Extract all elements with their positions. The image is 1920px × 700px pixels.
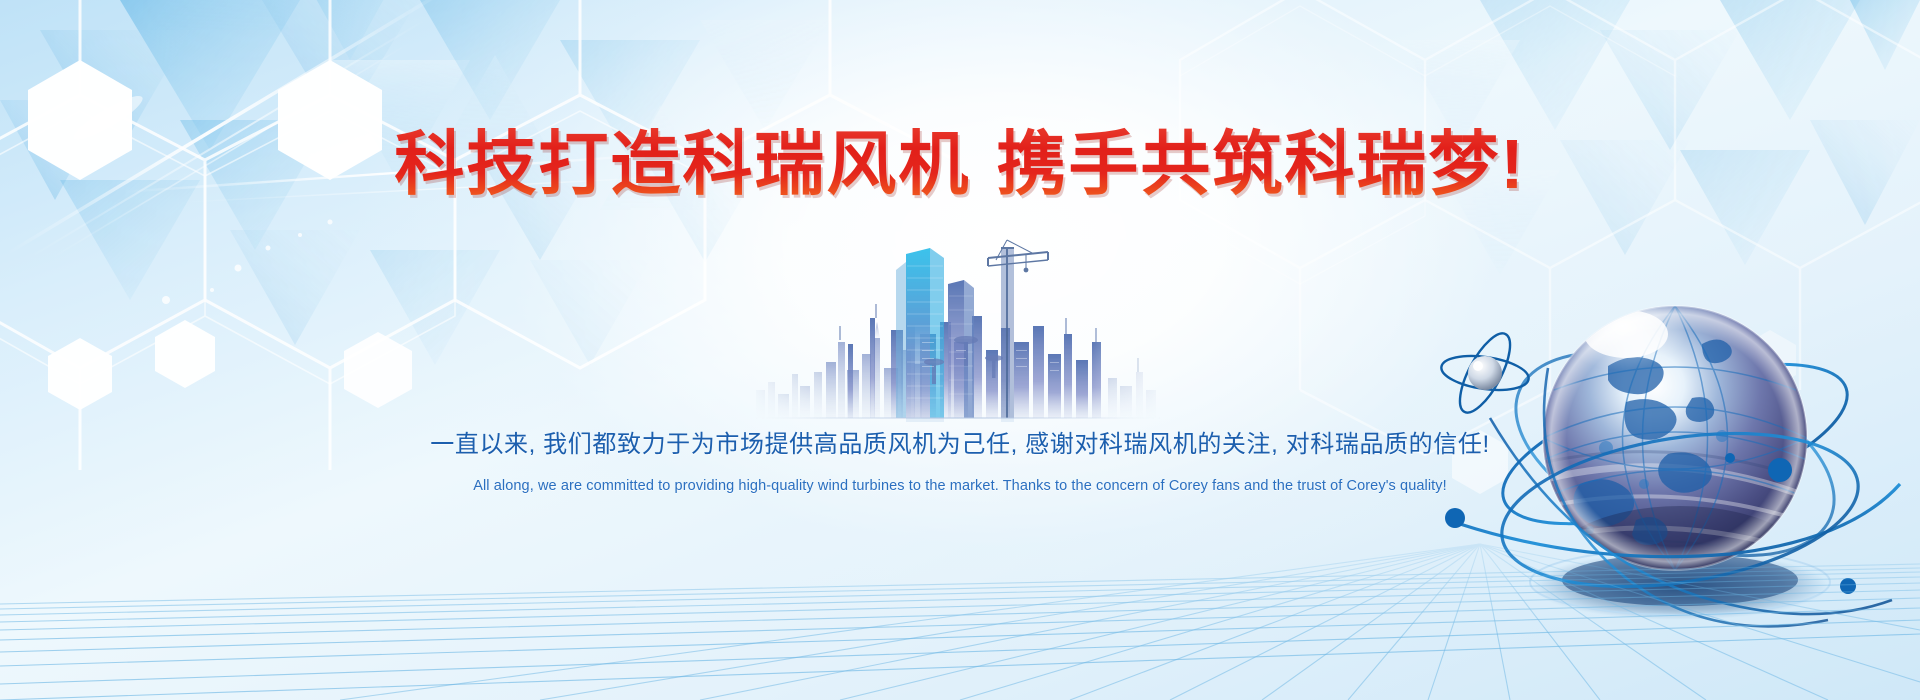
perspective-grid-icon — [0, 470, 1920, 700]
subtitle-english: All along, we are committed to providing… — [0, 475, 1920, 497]
city-skyline-icon — [748, 222, 1168, 422]
headline-part-1: 科技打造科瑞风机 — [394, 125, 970, 203]
headline-part-2: 携手共筑科瑞梦! — [996, 125, 1525, 203]
subtitle-chinese: 一直以来, 我们都致力于为市场提供高品质风机为己任, 感谢对科瑞风机的关注, 对… — [0, 428, 1920, 462]
page-title: 科技打造科瑞风机携手共筑科瑞梦! — [0, 126, 1920, 202]
hero-banner: 科技打造科瑞风机携手共筑科瑞梦! 一直以来, 我们都致力于为市场提供高品质风机为… — [0, 0, 1920, 700]
